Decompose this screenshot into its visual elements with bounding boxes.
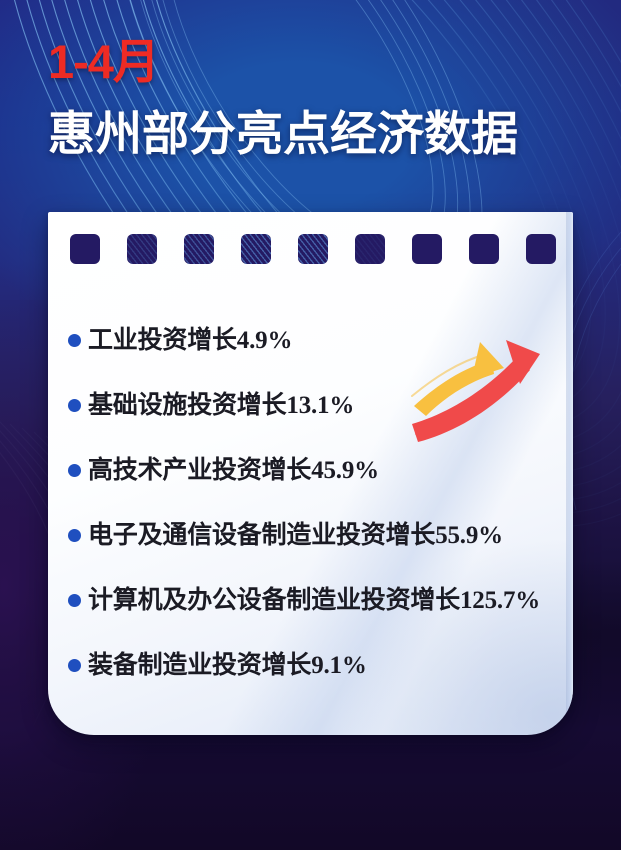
bullet-icon — [68, 529, 81, 542]
bullet-icon — [68, 659, 81, 672]
bullet-icon — [68, 334, 81, 347]
list-item: 高技术产业投资增长45.9% — [68, 438, 563, 503]
list-item: 电子及通信设备制造业投资增长55.9% — [68, 503, 563, 568]
strip-square — [526, 234, 556, 264]
list-item-label: 工业投资增长4.9% — [88, 328, 292, 353]
list-item: 基础设施投资增长13.1% — [68, 373, 563, 438]
infographic-poster: 1-4月 惠州部分亮点经济数据 工业投资增长4.9% 基础设施投资增长13.1% — [0, 0, 621, 850]
list-item-label: 高技术产业投资增长45.9% — [88, 458, 379, 483]
list-item: 计算机及办公设备制造业投资增长125.7% — [68, 568, 563, 633]
poster-header: 1-4月 惠州部分亮点经济数据 — [48, 38, 518, 157]
list-item: 装备制造业投资增长9.1% — [68, 633, 563, 698]
strip-square — [241, 234, 271, 264]
list-item-label: 基础设施投资增长13.1% — [88, 393, 354, 418]
list-item: 工业投资增长4.9% — [68, 308, 563, 373]
strip-square — [412, 234, 442, 264]
strip-square — [355, 234, 385, 264]
economic-data-list: 工业投资增长4.9% 基础设施投资增长13.1% 高技术产业投资增长45.9% … — [68, 308, 563, 698]
data-card: 工业投资增长4.9% 基础设施投资增长13.1% 高技术产业投资增长45.9% … — [48, 212, 573, 735]
bullet-icon — [68, 464, 81, 477]
list-item-label: 装备制造业投资增长9.1% — [88, 653, 367, 678]
bullet-icon — [68, 399, 81, 412]
card-page-edge — [566, 212, 573, 735]
strip-square — [70, 234, 100, 264]
list-item-label: 电子及通信设备制造业投资增长55.9% — [88, 523, 503, 548]
list-item-label: 计算机及办公设备制造业投资增长125.7% — [88, 588, 540, 613]
strip-square — [184, 234, 214, 264]
strip-square — [469, 234, 499, 264]
film-strip-decoration — [70, 234, 556, 264]
strip-square — [298, 234, 328, 264]
strip-square — [127, 234, 157, 264]
period-kicker: 1-4月 — [48, 38, 518, 85]
bullet-icon — [68, 594, 81, 607]
page-title: 惠州部分亮点经济数据 — [48, 110, 518, 157]
